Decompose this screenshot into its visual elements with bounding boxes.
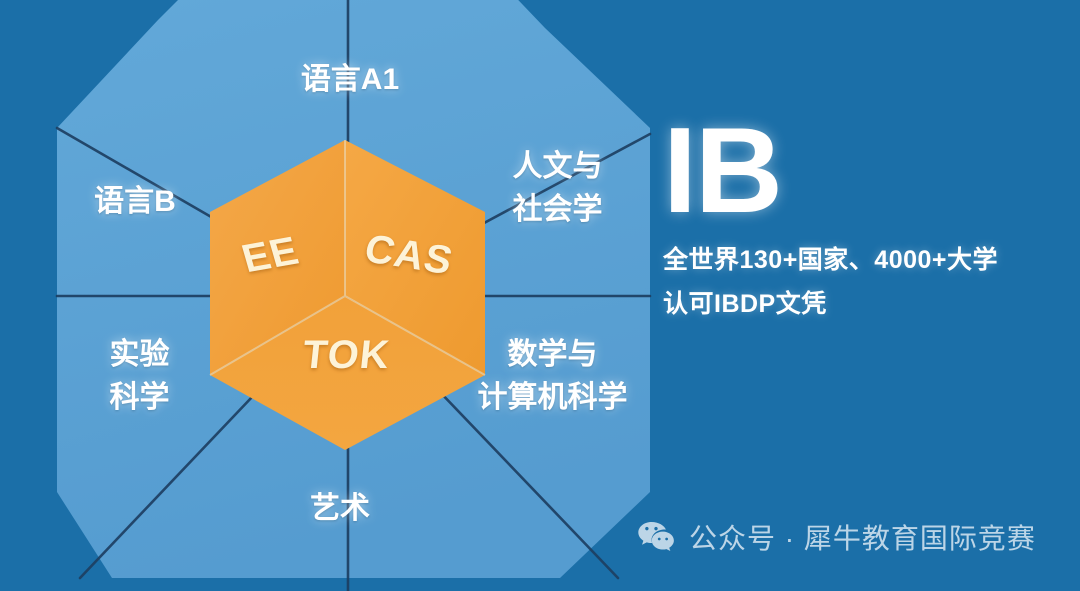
wechat-icon: [637, 520, 675, 554]
info-panel: IB 全世界130+国家、4000+大学 认可IBDP文凭: [663, 118, 1073, 326]
tagline: 全世界130+国家、4000+大学 认可IBDP文凭: [663, 239, 1073, 327]
watermark-text: 公众号 · 犀牛教育国际竞赛: [689, 517, 1036, 557]
ib-logo: IB: [663, 118, 1073, 223]
watermark: 公众号 · 犀牛教育国际竞赛: [637, 517, 1036, 557]
tagline-line-1: 全世界130+国家、4000+大学: [663, 239, 1073, 283]
poster-canvas: 语言A1 语言B 人文与 社会学 实验 科学 数学与 计算机科学 艺术 EE C…: [0, 0, 1080, 591]
tagline-line-2: 认可IBDP文凭: [663, 283, 1073, 327]
